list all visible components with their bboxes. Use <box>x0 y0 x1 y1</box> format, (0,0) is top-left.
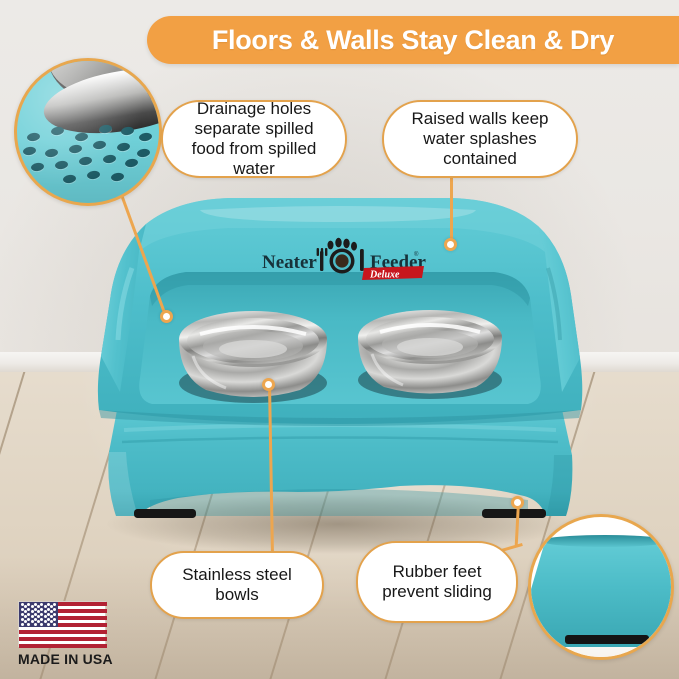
inset-rubber-feet <box>528 514 674 660</box>
rubber-foot-left <box>134 509 196 518</box>
stainless-bowl-left <box>179 311 327 403</box>
callout-rubber-feet: Rubber feet prevent sliding <box>356 541 518 623</box>
inset-base-corner <box>528 539 674 647</box>
callout-stainless-bowls: Stainless steel bowls <box>150 551 324 619</box>
svg-text:®: ® <box>414 251 419 258</box>
stainless-bowl-right <box>358 310 502 399</box>
inset-base-edge <box>541 535 669 547</box>
made-in-usa-badge: MADE IN USA <box>18 601 114 667</box>
callout-raised-walls: Raised walls keep water splashes contain… <box>382 100 578 178</box>
callout-raised-walls-text: Raised walls keep water splashes contain… <box>398 109 562 169</box>
callout-drainage-holes: Drainage holes separate spilled food fro… <box>161 100 347 178</box>
infographic-canvas: Neater Feeder ® Deluxe <box>0 0 679 679</box>
logo-text-sub: Deluxe <box>369 270 400 281</box>
callout-stainless-bowls-text: Stainless steel bowls <box>166 565 308 605</box>
banner-title: Floors & Walls Stay Clean & Dry <box>212 25 614 56</box>
callout-rubber-feet-text: Rubber feet prevent sliding <box>372 562 502 602</box>
connector-dot-bowls <box>262 378 275 391</box>
connector-dot-drainage <box>160 310 173 323</box>
connector-dot-feet <box>511 496 524 509</box>
connector-dot-raised-walls <box>444 238 457 251</box>
header-banner: Floors & Walls Stay Clean & Dry <box>147 16 679 64</box>
callout-drainage-text: Drainage holes separate spilled food fro… <box>177 99 331 179</box>
rubber-foot-right <box>482 509 546 518</box>
usa-flag-icon <box>18 601 106 647</box>
inset-drainage-holes <box>14 58 162 206</box>
logo-text-left: Neater <box>262 252 317 273</box>
connector-raised-walls <box>450 178 453 242</box>
inset-rubber-strip <box>565 635 649 644</box>
usa-flag-canton <box>19 602 58 627</box>
made-in-usa-label: MADE IN USA <box>18 651 114 667</box>
